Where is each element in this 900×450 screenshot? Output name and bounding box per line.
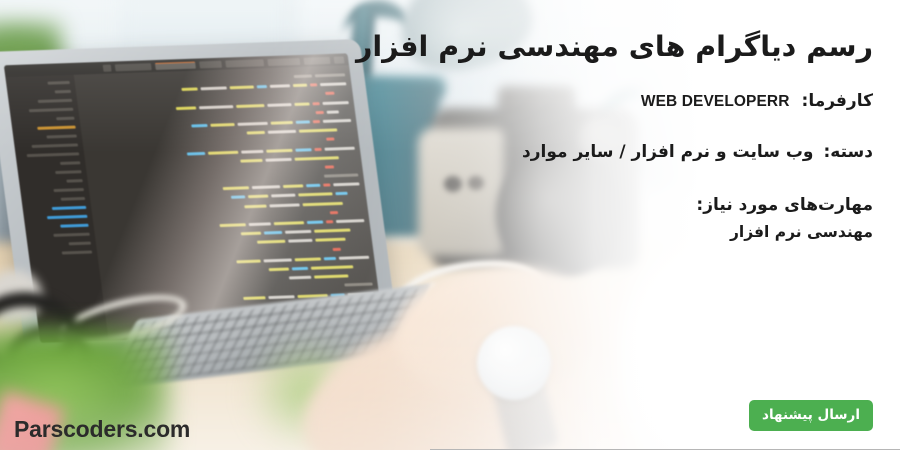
skills-label: مهارت‌های مورد نیاز: — [696, 195, 873, 215]
parscoders-logo: Parscoders.com — [14, 416, 190, 443]
submit-proposal-button[interactable]: ارسال پیشنهاد — [749, 400, 873, 431]
category-label: دسته: — [824, 142, 874, 162]
employer-label: کارفرما: — [802, 91, 873, 111]
category-value: وب سایت و نرم افزار / سایر موارد — [522, 142, 813, 162]
project-info-panel: رسم دیاگرام های مهندسی نرم افزار کارفرما… — [273, 0, 873, 450]
skills-row: مهارت‌های مورد نیاز: مهندسی نرم افزار — [273, 192, 873, 245]
employer-row: کارفرما:WEB DEVELOPERR — [273, 90, 873, 112]
page-title: رسم دیاگرام های مهندسی نرم افزار — [273, 29, 873, 65]
skills-value: مهندسی نرم افزار — [273, 220, 873, 245]
project-banner-card: رسم دیاگرام های مهندسی نرم افزار کارفرما… — [0, 0, 900, 450]
employer-value: WEB DEVELOPERR — [641, 92, 790, 112]
category-row: دسته:وب سایت و نرم افزار / سایر موارد — [273, 141, 873, 163]
